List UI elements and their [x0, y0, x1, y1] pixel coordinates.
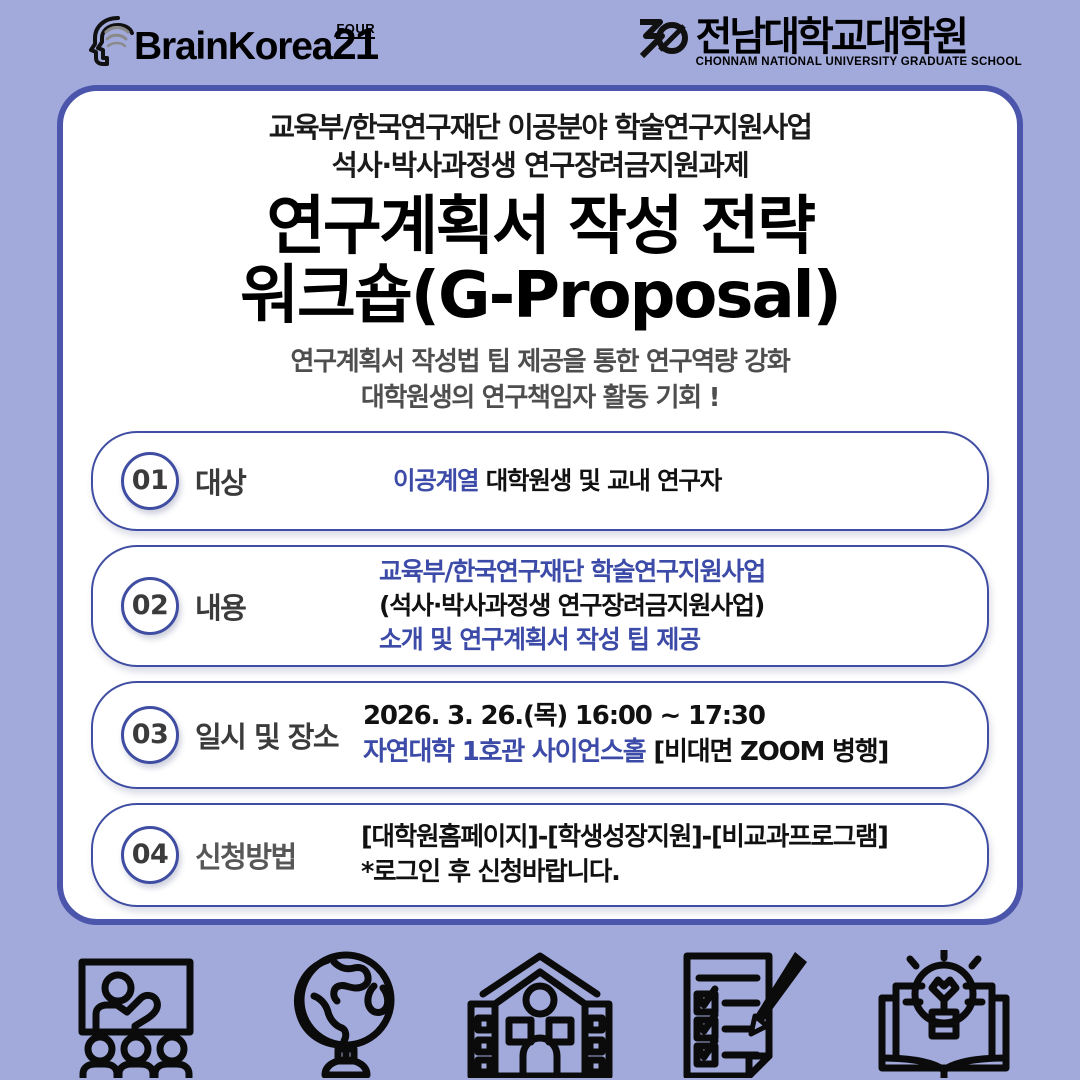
- info-line: 소개 및 연구계획서 작성 팁 제공: [379, 623, 987, 657]
- info-line: 교육부/한국연구재단 학술연구지원사업: [379, 555, 987, 589]
- info-row-01-heading: 01 대상: [93, 452, 393, 510]
- lightbulb-book-icon: [869, 946, 1019, 1078]
- header-logo-row: FOUR BrainKorea21 전남대학교대학원 CHONNAM NATIO…: [0, 0, 1080, 88]
- info-line: 자연대학 1호관 사이언스홀 [비대면 ZOOM 병행]: [363, 735, 987, 770]
- brain-head-icon: [88, 14, 134, 66]
- poster-kicker: 교육부/한국연구재단 이공분야 학술연구지원사업 석사·박사과정생 연구장려금지…: [63, 109, 1017, 185]
- chonnam-korean-name: 전남대학교대학원: [696, 16, 1022, 58]
- chonnam-university-logo: 전남대학교대학원 CHONNAM NATIONAL UNIVERSITY GRA…: [638, 16, 1022, 68]
- poster-card: 교육부/한국연구재단 이공분야 학술연구지원사업 석사·박사과정생 연구장려금지…: [57, 85, 1023, 925]
- info-line: [대학원홈페이지]-[학생성장지원]-[비교과프로그램]: [361, 820, 987, 855]
- chonnam-emblem-icon: [638, 16, 690, 60]
- info-line: 2026. 3. 26.(목) 16:00 ~ 17:30: [363, 699, 987, 734]
- info-row-03-number: 03: [121, 706, 179, 764]
- info-row-01-body: 이공계열 대학원생 및 교내 연구자: [393, 464, 987, 497]
- info-row-01-number: 01: [121, 452, 179, 510]
- info-row-02-heading: 02 내용: [93, 577, 393, 635]
- info-row-02-body: 교육부/한국연구재단 학술연구지원사업(석사·박사과정생 연구장려금지원사업)소…: [379, 555, 987, 657]
- info-row-03: 03 일시 및 장소 2026. 3. 26.(목) 16:00 ~ 17:30…: [91, 681, 989, 789]
- body-text: *로그인 후 신청바랍니다.: [361, 857, 620, 887]
- globe-icon: [263, 946, 413, 1078]
- info-row-04-number: 04: [121, 826, 179, 884]
- kicker-line-1: 교육부/한국연구재단 이공분야 학술연구지원사업: [63, 109, 1017, 147]
- page-title: 연구계획서 작성 전략 워크숍(G-Proposal): [63, 193, 1017, 331]
- info-row-01-label: 대상: [195, 460, 245, 502]
- subtitle-line-1: 연구계획서 작성법 팁 제공을 통한 연구역량 강화: [63, 345, 1017, 381]
- body-text: 대학원생 및 교내 연구자: [478, 466, 721, 495]
- info-row-04: 04 신청방법 [대학원홈페이지]-[학생성장지원]-[비교과프로그램]*로그인…: [91, 803, 989, 907]
- highlight-text: 이공계열: [393, 466, 478, 495]
- info-row-02: 02 내용 교육부/한국연구재단 학술연구지원사업(석사·박사과정생 연구장려금…: [91, 545, 989, 667]
- poster-subtitle: 연구계획서 작성법 팁 제공을 통한 연구역량 강화 대학원생의 연구책임자 활…: [63, 345, 1017, 417]
- highlight-text: 자연대학 1호관 사이언스홀: [363, 737, 646, 767]
- highlight-text: 교육부/한국연구재단 학술연구지원사업: [379, 557, 765, 586]
- info-row-04-heading: 04 신청방법: [93, 826, 393, 884]
- title-line-1: 연구계획서 작성 전략: [63, 193, 1017, 262]
- info-row-03-label: 일시 및 장소: [195, 714, 338, 756]
- checklist-pen-icon: [667, 946, 817, 1078]
- school-building-icon: [465, 946, 615, 1078]
- footer-icon-strip: [0, 930, 1080, 1080]
- brain-korea-21-four-logo: FOUR BrainKorea21: [88, 14, 377, 66]
- info-row-04-body: [대학원홈페이지]-[학생성장지원]-[비교과프로그램]*로그인 후 신청바랍니…: [361, 820, 987, 889]
- info-line: 이공계열 대학원생 및 교내 연구자: [393, 464, 987, 497]
- kicker-line-2: 석사·박사과정생 연구장려금지원과제: [63, 147, 1017, 185]
- subtitle-line-2: 대학원생의 연구책임자 활동 기회 !: [63, 381, 1017, 417]
- chonnam-english-name: CHONNAM NATIONAL UNIVERSITY GRADUATE SCH…: [696, 56, 1022, 68]
- info-row-04-label: 신청방법: [195, 834, 296, 876]
- info-row-01: 01 대상 이공계열 대학원생 및 교내 연구자: [91, 431, 989, 531]
- info-row-02-label: 내용: [195, 585, 245, 627]
- body-text: 2026. 3. 26.(목) 16:00 ~ 17:30: [363, 701, 765, 731]
- body-text: [비대면 ZOOM 병행]: [646, 737, 889, 767]
- title-line-2: 워크숍(G-Proposal): [63, 262, 1017, 331]
- info-row-03-heading: 03 일시 및 장소: [93, 706, 393, 764]
- info-row-03-body: 2026. 3. 26.(목) 16:00 ~ 17:30자연대학 1호관 사이…: [363, 699, 987, 770]
- body-text: [대학원홈페이지]-[학생성장지원]-[비교과프로그램]: [361, 822, 888, 852]
- classroom-presentation-icon: [61, 946, 211, 1078]
- info-line: *로그인 후 신청바랍니다.: [361, 855, 987, 890]
- highlight-text: 소개 및 연구계획서 작성 팁 제공: [379, 625, 700, 654]
- body-text: (석사·박사과정생 연구장려금지원사업): [379, 591, 764, 620]
- brain-korea-four-superscript: FOUR: [336, 22, 375, 38]
- info-row-02-number: 02: [121, 577, 179, 635]
- info-rows: 01 대상 이공계열 대학원생 및 교내 연구자 02 내용 교육부/한국연구재…: [63, 431, 1017, 907]
- info-line: (석사·박사과정생 연구장려금지원사업): [379, 589, 987, 623]
